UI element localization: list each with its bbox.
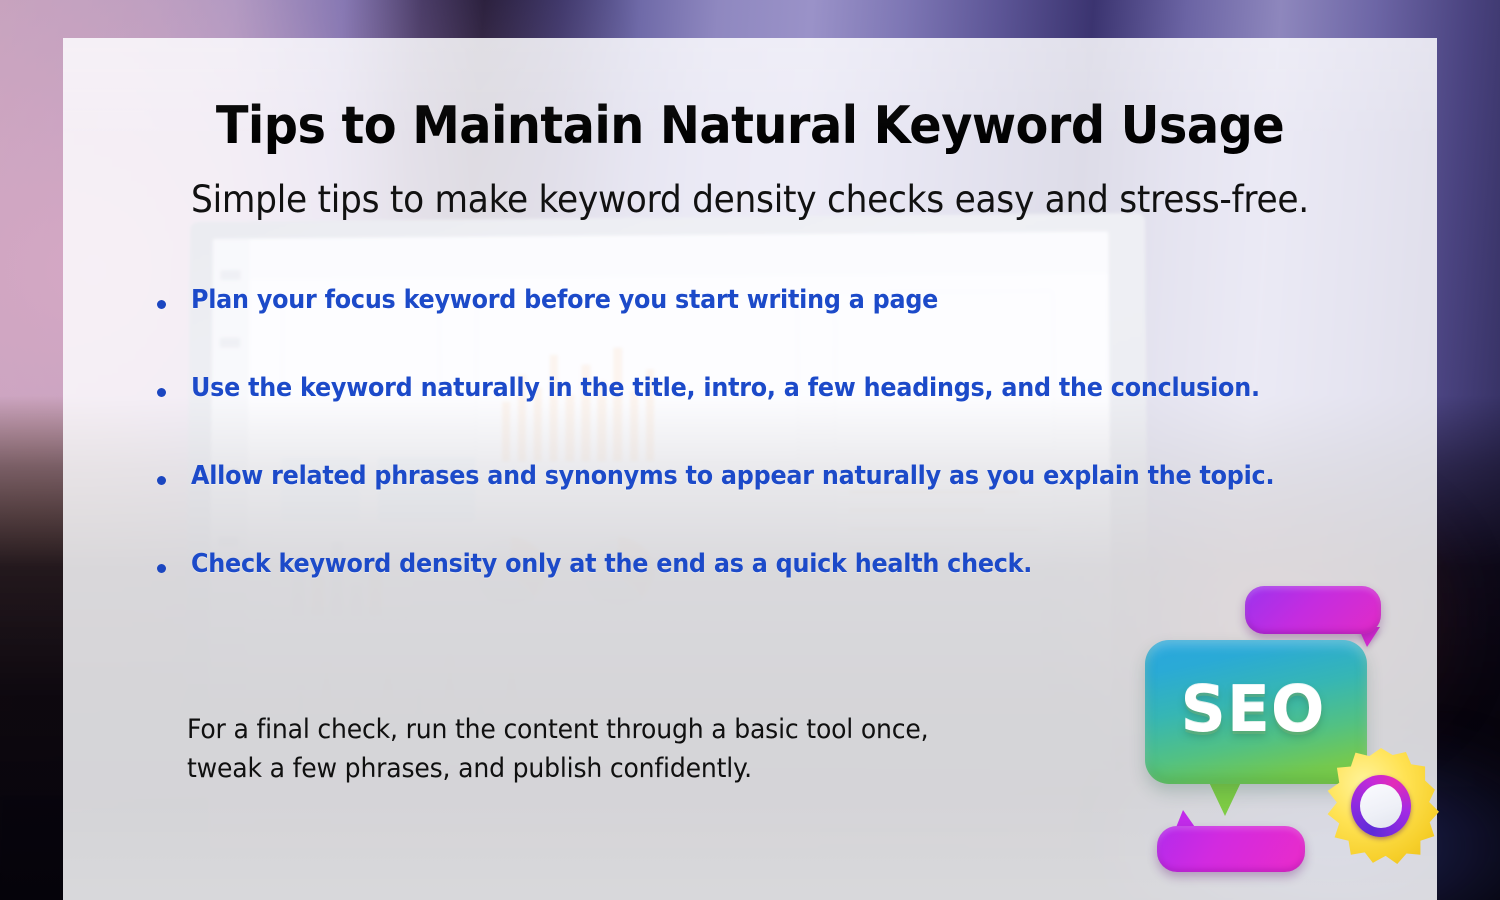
gear-icon bbox=[1323, 748, 1439, 864]
list-item: Use the keyword naturally in the title, … bbox=[149, 374, 1397, 406]
list-item: Plan your focus keyword before you start… bbox=[149, 286, 1397, 318]
closing-paragraph: For a final check, run the content throu… bbox=[187, 710, 1024, 788]
seo-illustration: SEO bbox=[1135, 578, 1455, 878]
list-item: Allow related phrases and synonyms to ap… bbox=[149, 462, 1397, 494]
closing-line-1: For a final check, run the content throu… bbox=[187, 710, 1024, 749]
list-item-label: Allow related phrases and synonyms to ap… bbox=[191, 462, 1319, 491]
gear-center-ring bbox=[1351, 775, 1411, 837]
list-item-label: Use the keyword naturally in the title, … bbox=[191, 374, 1319, 403]
bullet-dot-icon bbox=[157, 564, 166, 573]
slide-canvas: Tips to Maintain Natural Keyword Usage S… bbox=[0, 0, 1500, 900]
page-title: Tips to Maintain Natural Keyword Usage bbox=[118, 96, 1382, 156]
bullet-dot-icon bbox=[157, 476, 166, 485]
bullet-dot-icon bbox=[157, 388, 166, 397]
page-subtitle: Simple tips to make keyword density chec… bbox=[111, 178, 1389, 221]
closing-line-2: tweak a few phrases, and publish confide… bbox=[187, 749, 1024, 788]
list-item-label: Check keyword density only at the end as… bbox=[191, 550, 1319, 579]
speech-bubble-small-top-icon bbox=[1245, 586, 1381, 634]
list-item-label: Plan your focus keyword before you start… bbox=[191, 286, 1319, 315]
gear-center-hole bbox=[1360, 784, 1402, 828]
speech-bubble-small-bottom-icon bbox=[1157, 826, 1305, 872]
bullet-dot-icon bbox=[157, 300, 166, 309]
